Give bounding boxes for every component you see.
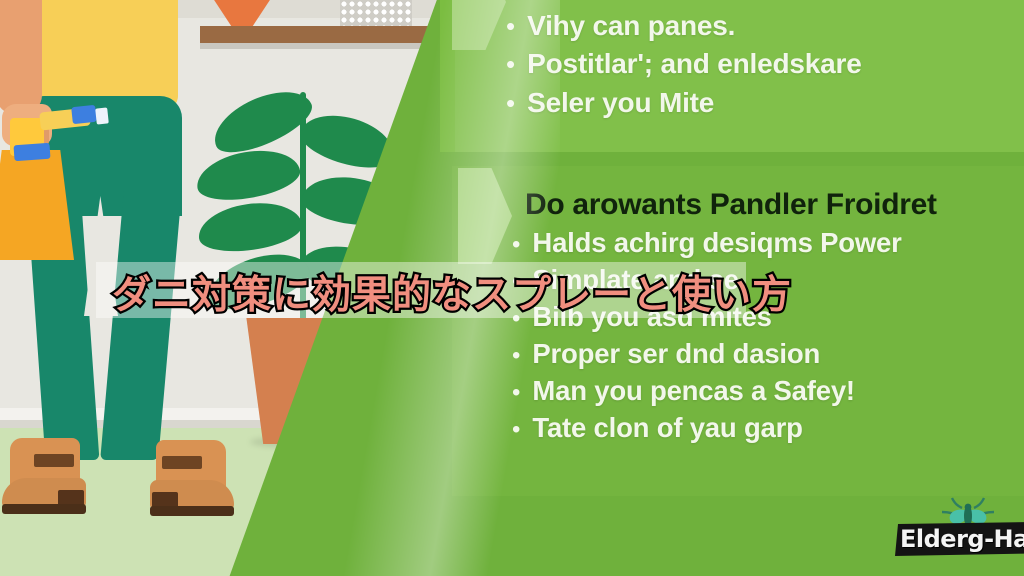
list-item: • Man you pencas a Safey!: [512, 372, 902, 410]
list-item-label: Tate clon of yau garp: [532, 409, 802, 447]
list-item: • Postitlar'; and enledskare: [506, 46, 862, 82]
bottom-bullet-list: • Halds achirg desiqms Power • Simplate …: [512, 224, 902, 446]
list-item: • Seler you Mite: [506, 85, 862, 121]
bullet-icon: •: [512, 381, 520, 405]
bullet-icon: •: [512, 418, 520, 442]
list-item: • Proper ser dnd dasion: [512, 335, 902, 373]
thumbnail-canvas: • Vihy can panes. • Postitlar'; and enle…: [0, 0, 1024, 576]
list-item: • Halds achirg desiqms Power: [512, 224, 902, 262]
channel-logo[interactable]: Elderg-Ha: [892, 508, 1024, 556]
bullet-icon: •: [512, 233, 520, 257]
logo-text: Elderg-Ha: [900, 525, 1024, 553]
section-heading: Do arowants Pandler Froidret: [525, 188, 937, 222]
list-item-label: Man you pencas a Safey!: [532, 372, 854, 410]
bullet-icon: •: [506, 90, 515, 116]
top-bullet-list: • Vihy can panes. • Postitlar'; and enle…: [506, 8, 862, 123]
bullet-icon: •: [512, 344, 520, 368]
list-item: • Vihy can panes.: [506, 8, 862, 44]
bullet-icon: •: [506, 51, 515, 77]
list-item-label: Seler you Mite: [527, 85, 714, 121]
list-item-label: Vihy can panes.: [527, 8, 735, 44]
list-item-label: Halds achirg desiqms Power: [532, 224, 901, 262]
bullet-icon: •: [506, 13, 515, 39]
list-item-label: Postitlar'; and enledskare: [527, 46, 861, 82]
caption-title: ダニ対策に効果的なスプレーと使い方: [112, 264, 932, 320]
list-item: • Tate clon of yau garp: [512, 409, 902, 447]
list-item-label: Proper ser dnd dasion: [532, 335, 820, 373]
